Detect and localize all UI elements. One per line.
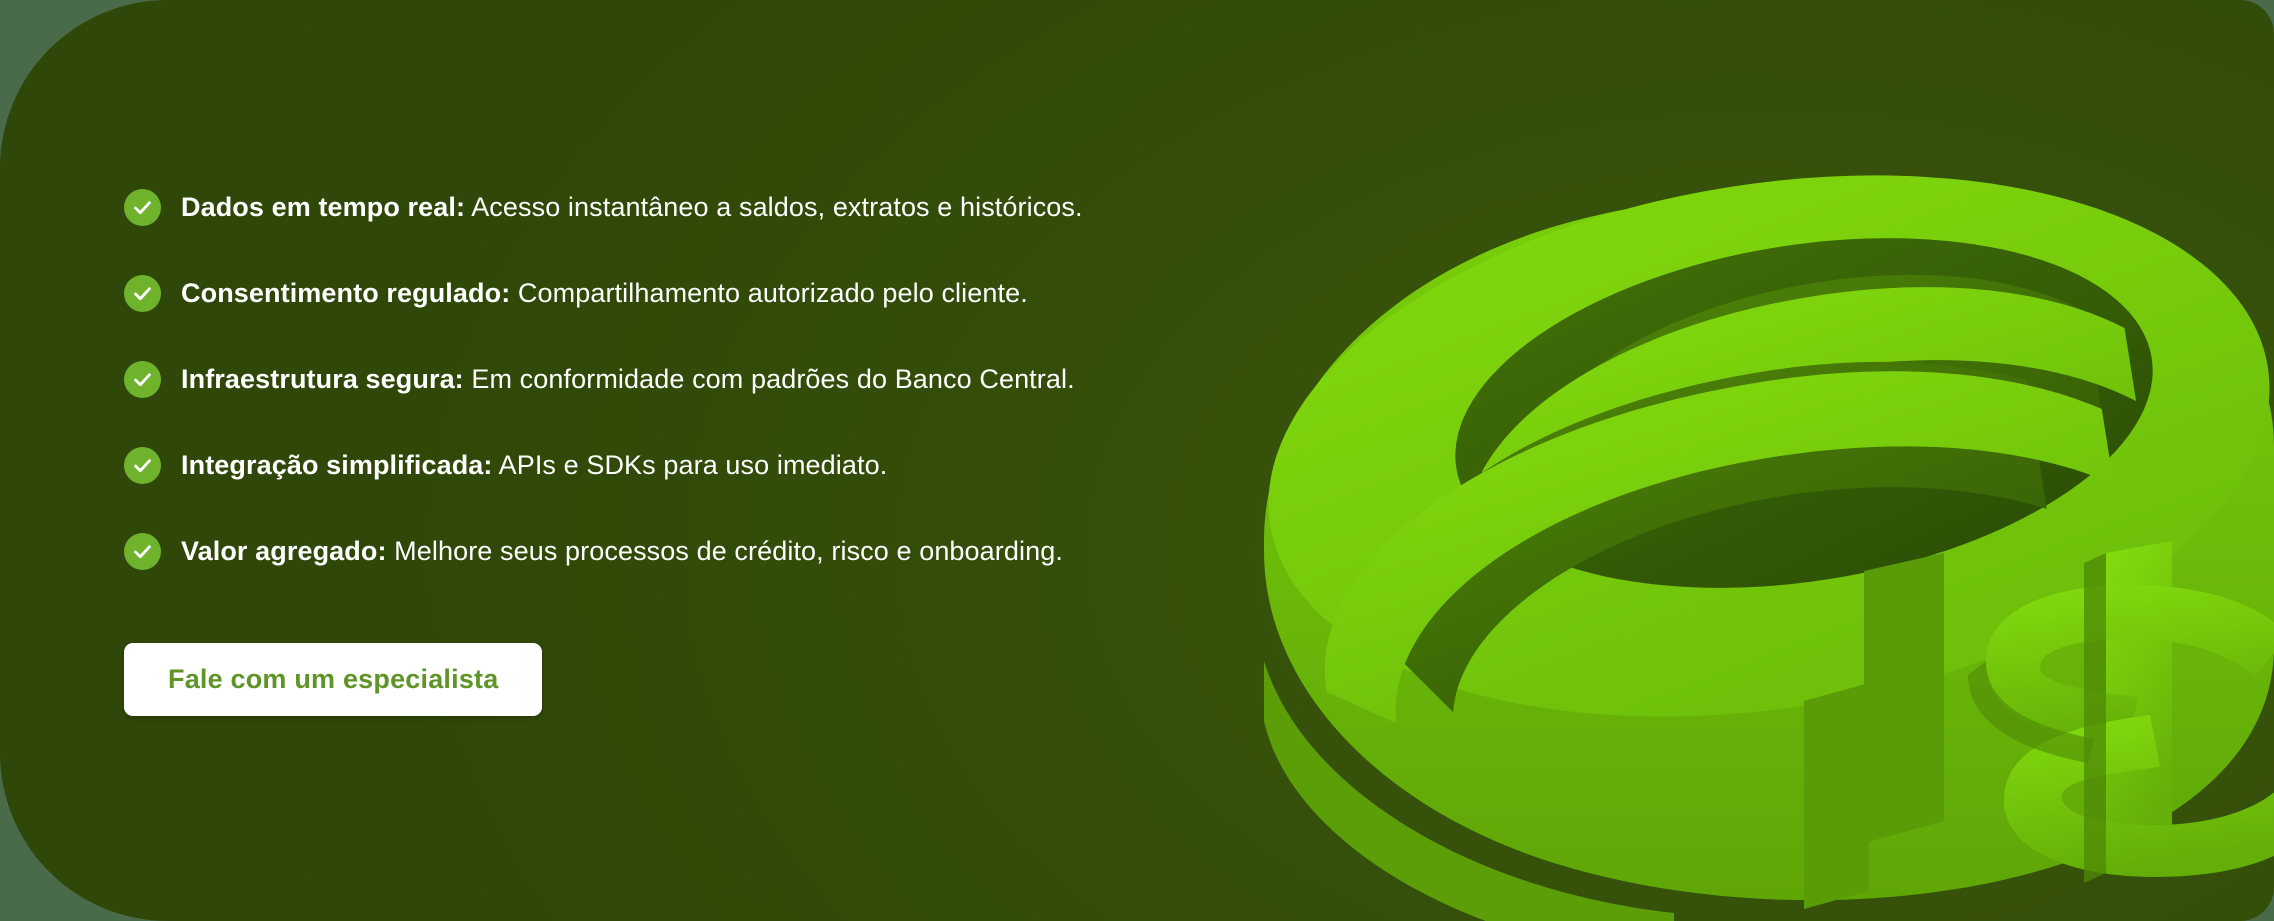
check-circle-icon: [124, 189, 161, 226]
feature-lead: Infraestrutura segura:: [181, 364, 464, 394]
promo-card: Dados em tempo real: Acesso instantâneo …: [0, 0, 2274, 921]
money-database-3d-illustration: [1234, 81, 2274, 921]
feature-text: Valor agregado: Melhore seus processos d…: [181, 534, 1063, 568]
feature-item: Valor agregado: Melhore seus processos d…: [124, 530, 1374, 572]
check-circle-icon: [124, 275, 161, 312]
feature-list: Dados em tempo real: Acesso instantâneo …: [124, 186, 1374, 616]
feature-rest: APIs e SDKs para uso imediato.: [493, 450, 888, 480]
feature-text: Dados em tempo real: Acesso instantâneo …: [181, 190, 1083, 224]
feature-text: Consentimento regulado: Compartilhamento…: [181, 276, 1028, 310]
feature-lead: Integração simplificada:: [181, 450, 493, 480]
feature-lead: Dados em tempo real:: [181, 192, 465, 222]
feature-rest: Compartilhamento autorizado pelo cliente…: [510, 278, 1028, 308]
talk-to-specialist-button[interactable]: Fale com um especialista: [124, 643, 542, 716]
feature-item: Consentimento regulado: Compartilhamento…: [124, 272, 1374, 314]
check-circle-icon: [124, 447, 161, 484]
feature-rest: Acesso instantâneo a saldos, extratos e …: [465, 192, 1083, 222]
feature-rest: Melhore seus processos de crédito, risco…: [387, 536, 1063, 566]
feature-text: Integração simplificada: APIs e SDKs par…: [181, 448, 887, 482]
check-circle-icon: [124, 361, 161, 398]
feature-rest: Em conformidade com padrões do Banco Cen…: [464, 364, 1075, 394]
feature-text: Infraestrutura segura: Em conformidade c…: [181, 362, 1075, 396]
feature-item: Infraestrutura segura: Em conformidade c…: [124, 358, 1374, 400]
feature-item: Integração simplificada: APIs e SDKs par…: [124, 444, 1374, 486]
feature-item: Dados em tempo real: Acesso instantâneo …: [124, 186, 1374, 228]
feature-lead: Consentimento regulado:: [181, 278, 510, 308]
check-circle-icon: [124, 533, 161, 570]
feature-lead: Valor agregado:: [181, 536, 387, 566]
